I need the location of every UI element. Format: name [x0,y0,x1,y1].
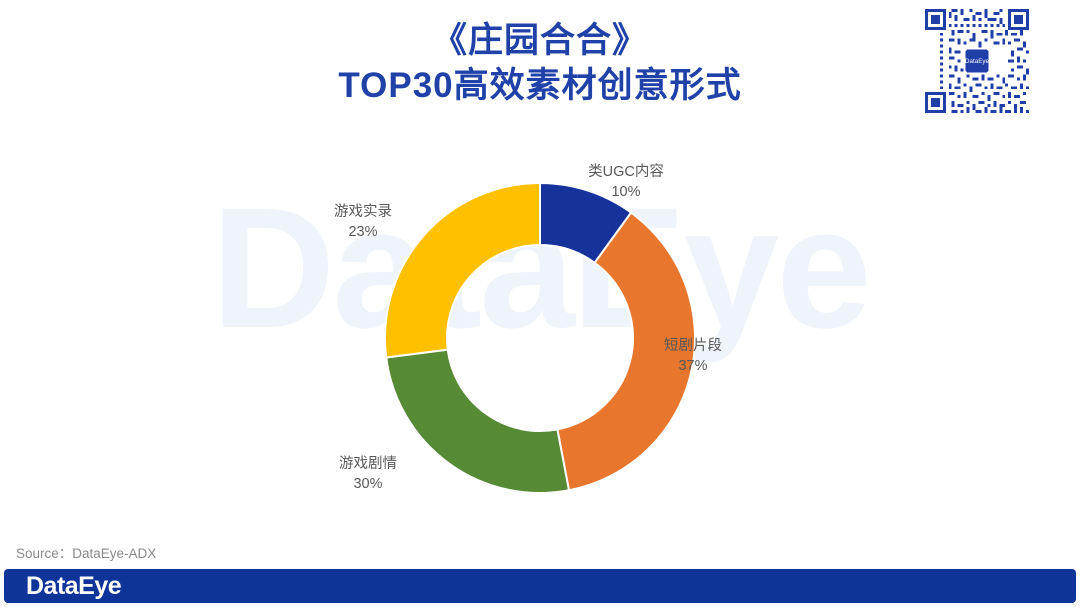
footer-bar: DataEye [4,569,1076,603]
slice-label-ugc: 类UGC内容 10% [568,162,684,202]
slice-label-short-drama: 短剧片段 37% [635,336,751,376]
slice-label-gameplay-record-name: 游戏实录 [334,204,392,220]
title-line-secondary: TOP30高效素材创意形式 [0,63,1080,109]
dataeye-logo: DataEye [26,573,184,599]
donut-chart: 类UGC内容 10% 短剧片段 37% 游戏剧情 30% 游戏实录 23% [0,140,1080,530]
svg-text:DataEye: DataEye [965,58,989,65]
qr-code-icon: DataEye [922,6,1032,116]
slice-label-gameplay-record: 游戏实录 23% [305,202,421,242]
slide-canvas: DataEye 《庄园合合》 TOP30高效素材创意形式 [0,0,1080,608]
source-note: Source：DataEye-ADX [16,542,156,562]
slice-label-game-plot-value: 30% [310,474,426,494]
slice-label-ugc-name: 类UGC内容 [588,164,664,180]
qr-code[interactable]: DataEye [922,6,1032,116]
slice-label-gameplay-record-value: 23% [305,222,421,242]
page-title: 《庄园合合》 TOP30高效素材创意形式 [0,18,1080,109]
slice-label-ugc-value: 10% [568,182,684,202]
slice-label-game-plot-name: 游戏剧情 [339,456,397,472]
dataeye-logo-text: DataEye [26,573,122,599]
slice-label-short-drama-value: 37% [635,356,751,376]
title-line-primary: 《庄园合合》 [0,18,1080,63]
slice-label-game-plot: 游戏剧情 30% [310,454,426,494]
slice-label-short-drama-name: 短剧片段 [664,338,722,354]
